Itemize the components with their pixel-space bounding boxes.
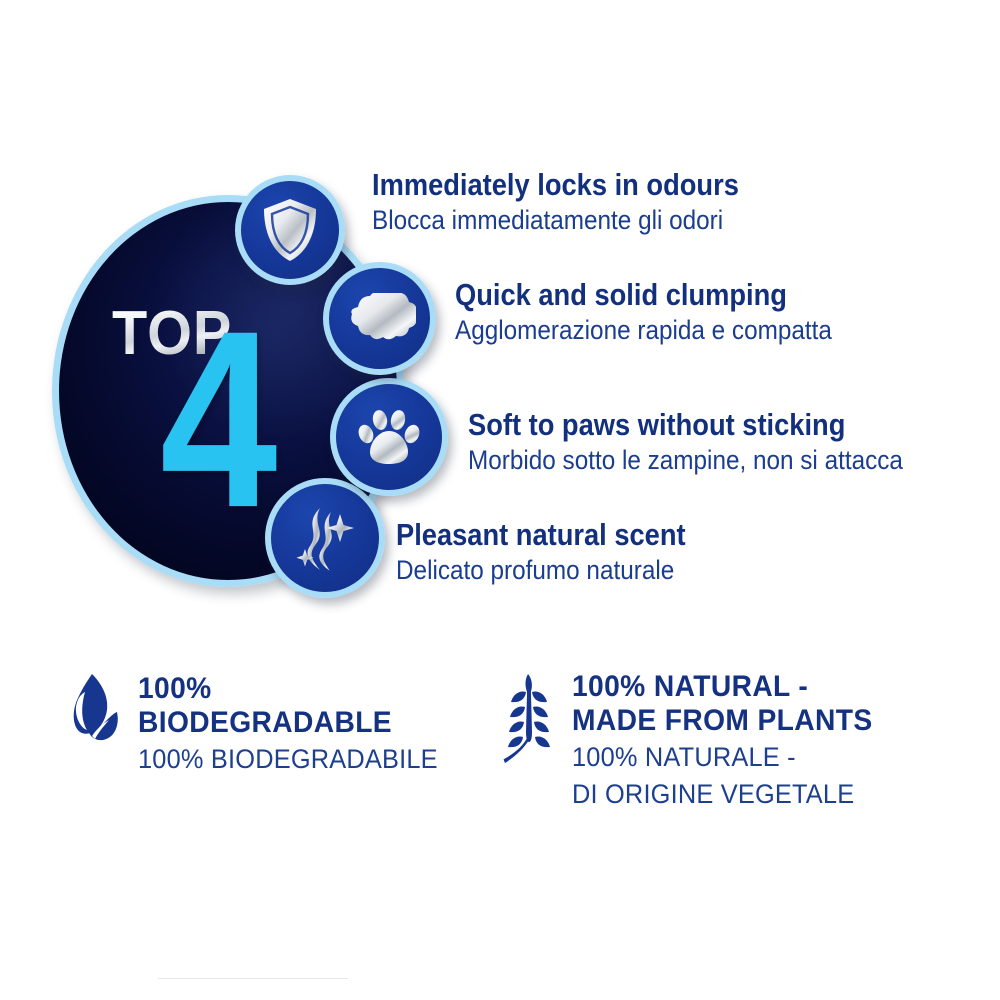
claim-natural-text: 100% NATURAL - MADE FROM PLANTS 100% NAT… [572,666,892,810]
feature-title-it-1: Agglomerazione rapida e compatta [455,315,832,346]
claim-en-line1-nat: 100% NATURAL - [572,670,873,704]
leaf-icon [62,668,124,754]
shield-icon [260,197,320,263]
feature-text-0: Immediately locks in odours Blocca immed… [372,168,789,237]
claim-it-line1-bio: 100% BIODEGRADABILE [138,744,438,775]
paw-icon [358,407,420,467]
claim-biodegradable: 100% BIODEGRADABLE 100% BIODEGRADABILE [62,668,457,776]
feature-icon-bubble-scent [265,478,385,598]
claim-it-line1-nat: 100% NATURALE - [572,742,873,773]
feature-icon-bubble-shield [235,175,345,285]
claim-en-line1-bio: 100% [138,672,438,706]
feature-title-en-1: Quick and solid clumping [455,278,824,311]
claim-en-line2-bio: BIODEGRADABLE [138,706,438,740]
feature-text-3: Pleasant natural scent Delicato profumo … [396,518,725,587]
claim-en-line2-nat: MADE FROM PLANTS [572,704,873,738]
claims-row: 100% BIODEGRADABLE 100% BIODEGRADABILE [0,660,1000,860]
wheat-icon [502,666,558,774]
feature-title-en-0: Immediately locks in odours [372,168,739,201]
feature-title-it-0: Blocca immediatamente gli odori [372,205,747,236]
infographic-canvas: TOP 4 [0,0,1000,1000]
feature-icon-bubble-clump [323,262,436,375]
feature-icon-bubble-paw [330,378,448,496]
claim-natural: 100% NATURAL - MADE FROM PLANTS 100% NAT… [502,666,892,810]
badge-number-4: 4 [160,293,277,545]
footer-divider [158,978,348,979]
claim-biodegradable-text: 100% BIODEGRADABLE 100% BIODEGRADABILE [138,668,457,776]
feature-text-2: Soft to paws without sticking Morbido so… [468,408,951,477]
feature-title-en-3: Pleasant natural scent [396,518,686,551]
feature-title-it-3: Delicato profumo naturale [396,555,692,586]
feature-title-en-2: Soft to paws without sticking [468,408,893,441]
feature-text-1: Quick and solid clumping Agglomerazione … [455,278,874,347]
claim-it-line2-nat: DI ORIGINE VEGETALE [572,779,873,810]
clump-cloud-icon [344,293,416,345]
feature-title-it-2: Morbido sotto le zampine, non si attacca [468,445,903,476]
scent-sparkle-icon [290,502,360,574]
